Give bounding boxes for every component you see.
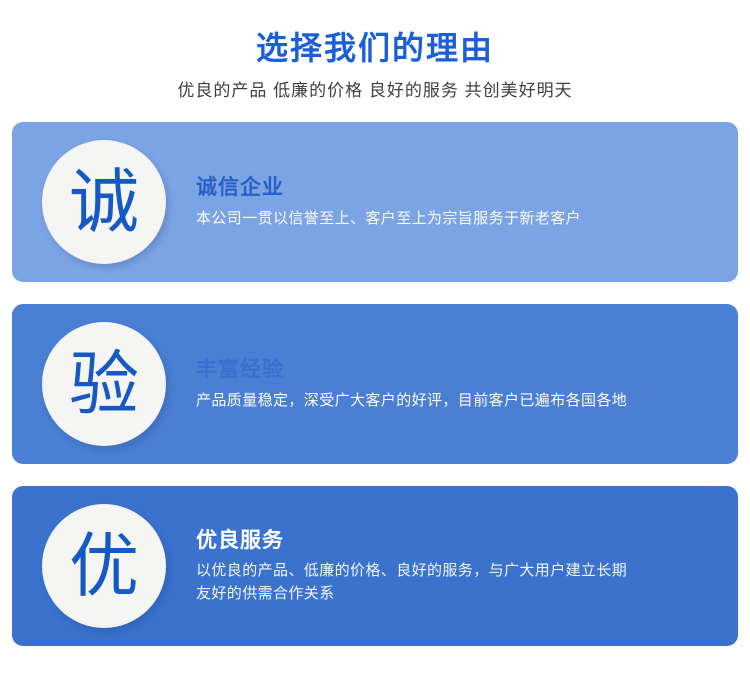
cheng-character-badge: 诚: [69, 167, 139, 237]
badge-circle: 诚: [42, 140, 166, 264]
you-character-badge: 优: [69, 531, 139, 601]
badge-circle: 优: [42, 504, 166, 628]
feature-card-description: 以优良的产品、低廉的价格、良好的服务，与广大用户建立长期 友好的供需合作关系: [196, 559, 724, 606]
page-title: 选择我们的理由: [0, 28, 750, 68]
page-header: 选择我们的理由 优良的产品 低廉的价格 良好的服务 共创美好明天: [0, 0, 750, 102]
feature-card-description: 产品质量稳定，深受广大客户的好评，目前客户已遍布各国各地: [196, 389, 724, 412]
feature-card-description: 本公司一贯以信誉至上、客户至上为宗旨服务于新老客户: [196, 207, 724, 230]
badge-circle: 验: [42, 322, 166, 446]
feature-card-list: 诚 诚信企业 本公司一贯以信誉至上、客户至上为宗旨服务于新老客户 验 丰富经验 …: [0, 122, 750, 646]
feature-card-experience: 验 丰富经验 产品质量稳定，深受广大客户的好评，目前客户已遍布各国各地: [12, 304, 738, 464]
page-subtitle: 优良的产品 低廉的价格 良好的服务 共创美好明天: [0, 80, 750, 102]
feature-card-service: 优 优良服务 以优良的产品、低廉的价格、良好的服务，与广大用户建立长期 友好的供…: [12, 486, 738, 646]
feature-card-title: 诚信企业: [196, 174, 724, 202]
feature-card-integrity: 诚 诚信企业 本公司一贯以信誉至上、客户至上为宗旨服务于新老客户: [12, 122, 738, 282]
feature-card-title: 优良服务: [196, 527, 724, 555]
feature-card-body: 诚信企业 本公司一贯以信誉至上、客户至上为宗旨服务于新老客户: [196, 174, 738, 230]
feature-card-body: 优良服务 以优良的产品、低廉的价格、良好的服务，与广大用户建立长期 友好的供需合…: [196, 527, 738, 606]
feature-card-body: 丰富经验 产品质量稳定，深受广大客户的好评，目前客户已遍布各国各地: [196, 356, 738, 412]
reasons-to-choose-us-page: 选择我们的理由 优良的产品 低廉的价格 良好的服务 共创美好明天 诚 诚信企业 …: [0, 0, 750, 675]
feature-card-title: 丰富经验: [196, 356, 724, 384]
yan-character-badge: 验: [69, 349, 139, 419]
